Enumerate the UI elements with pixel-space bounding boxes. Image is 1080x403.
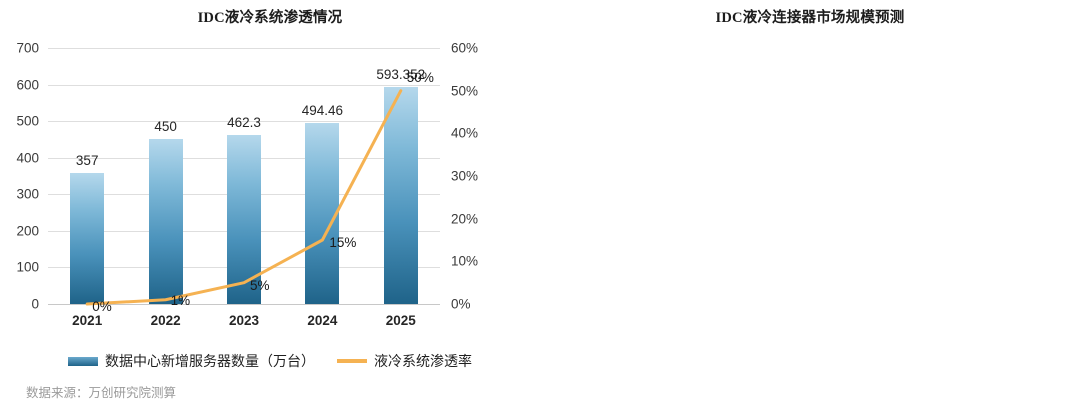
chart-page: IDC液冷系统渗透情况 01002003004005006007000%10%2… bbox=[0, 0, 1080, 403]
line-value-label: 50% bbox=[407, 71, 434, 85]
line-value-label: 5% bbox=[250, 279, 270, 293]
y-axis-right-tick: 20% bbox=[451, 212, 478, 226]
y-axis-right-tick: 50% bbox=[451, 84, 478, 98]
chart-title-left: IDC液冷系统渗透情况 bbox=[0, 6, 540, 27]
bar[interactable] bbox=[305, 123, 339, 304]
y-axis-right-tick: 60% bbox=[451, 41, 478, 55]
x-axis-tick: 2024 bbox=[307, 313, 337, 328]
bar-value-label: 357 bbox=[76, 154, 99, 168]
y-axis-right-tick: 0% bbox=[451, 297, 471, 311]
chart-title-right: IDC液冷连接器市场规模预测 bbox=[540, 6, 1080, 27]
chart-panel-connector: IDC液冷连接器市场规模预测 0100200300400500600700050… bbox=[540, 0, 1080, 403]
line-value-label: 1% bbox=[171, 294, 191, 308]
bar-value-label: 462.3 bbox=[227, 116, 261, 130]
y-axis-left-tick: 300 bbox=[16, 188, 39, 202]
y-axis-left-tick: 100 bbox=[16, 261, 39, 275]
x-axis-tick: 2023 bbox=[229, 313, 259, 328]
plot-inner-left: 01002003004005006007000%10%20%30%40%50%6… bbox=[48, 48, 440, 304]
y-axis-right-tick: 10% bbox=[451, 255, 478, 269]
legend-item-line-left[interactable]: 液冷系统渗透率 bbox=[337, 351, 472, 371]
x-axis-tick: 2021 bbox=[72, 313, 102, 328]
legend-label-bar-left: 数据中心新增服务器数量（万台） bbox=[105, 351, 315, 371]
plot-area-left: 01002003004005006007000%10%20%30%40%50%6… bbox=[48, 48, 440, 304]
y-axis-left-tick: 200 bbox=[16, 224, 39, 238]
x-axis-tick: 2022 bbox=[151, 313, 181, 328]
line-value-label: 15% bbox=[329, 236, 356, 250]
bar[interactable] bbox=[384, 87, 418, 304]
gridline bbox=[48, 85, 440, 86]
y-axis-right-tick: 30% bbox=[451, 169, 478, 183]
x-axis-tick: 2025 bbox=[386, 313, 416, 328]
bar[interactable] bbox=[70, 173, 104, 304]
y-axis-right-tick: 40% bbox=[451, 127, 478, 141]
y-axis-left-tick: 700 bbox=[16, 41, 39, 55]
chart-panel-penetration: IDC液冷系统渗透情况 01002003004005006007000%10%2… bbox=[0, 0, 540, 403]
y-axis-left-tick: 400 bbox=[16, 151, 39, 165]
legend-label-line-left: 液冷系统渗透率 bbox=[374, 351, 472, 371]
legend-swatch-line-icon bbox=[337, 359, 367, 363]
bar[interactable] bbox=[149, 139, 183, 304]
y-axis-left-tick: 600 bbox=[16, 78, 39, 92]
bar-value-label: 494.46 bbox=[302, 104, 343, 118]
legend-item-bar-left[interactable]: 数据中心新增服务器数量（万台） bbox=[68, 351, 315, 371]
y-axis-left-tick: 0 bbox=[31, 297, 39, 311]
legend-swatch-bar-icon bbox=[68, 357, 98, 366]
legend-left: 数据中心新增服务器数量（万台） 液冷系统渗透率 bbox=[0, 350, 540, 372]
line-value-label: 0% bbox=[92, 300, 112, 314]
bar-value-label: 450 bbox=[154, 120, 177, 134]
y-axis-left-tick: 500 bbox=[16, 114, 39, 128]
source-note: 数据来源：万创研究院测算 bbox=[26, 382, 176, 401]
gridline bbox=[48, 48, 440, 49]
